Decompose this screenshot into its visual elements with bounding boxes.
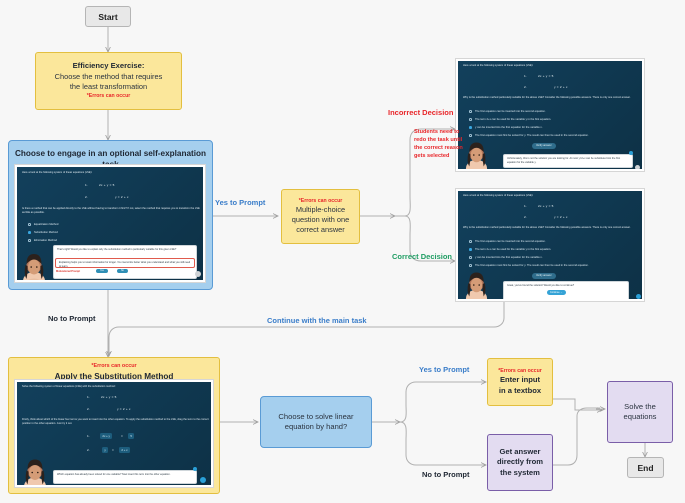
- shot2-radio-1[interactable]: [469, 118, 472, 121]
- shot4-feedback-bubble: Which equation has already been solved f…: [53, 470, 197, 484]
- shot4-drag2-num: 2.: [87, 448, 90, 452]
- shot4-feedback-text: Which equation has already been solved f…: [57, 473, 193, 477]
- help-dot-icon[interactable]: [636, 294, 641, 299]
- shot2-radio-2[interactable]: [469, 126, 472, 129]
- multiple-choice-line1: Multiple-choice: [296, 205, 345, 215]
- shot3-radio-0[interactable]: [469, 240, 472, 243]
- shot1-eq1: 2x + y = 5: [99, 183, 115, 187]
- shot3-prompt: Here a look at the following system of l…: [463, 194, 635, 198]
- screenshot-correct-decision[interactable]: Here a look at the following system of l…: [455, 188, 645, 302]
- close-icon[interactable]: [193, 467, 197, 471]
- help-dot-icon[interactable]: [200, 477, 206, 483]
- efficiency-line1: Efficiency Exercise:: [73, 61, 145, 71]
- shot4-instruction: Firstly, think about which of the linear…: [22, 418, 210, 426]
- shot3-radio-1[interactable]: [469, 248, 472, 251]
- shot1-highlight-box: Explaining helps you to retain informati…: [55, 258, 195, 268]
- shot2-feedback-bubble: Unfortunately, this is not the solution …: [503, 154, 633, 168]
- shot2-radio-3[interactable]: [469, 134, 472, 137]
- edge-label-no-to-prompt-1: No to Prompt: [48, 314, 96, 323]
- shot3-eq2: y = 2 + x: [554, 215, 568, 219]
- shot4-drag1-a[interactable]: 2x + y: [100, 433, 112, 439]
- shot4-drag1-c[interactable]: 5: [128, 433, 134, 439]
- node-enter-input[interactable]: *Errors can occur Enter input in a textb…: [487, 358, 553, 406]
- shot2-eq1: 2x + y = 5: [538, 74, 554, 78]
- shot3-feedback-text: Great, you've found the solution! Would …: [507, 284, 625, 288]
- shot3-eq2-num: 2.: [524, 215, 527, 219]
- shot3-continue-button[interactable]: Continue →: [547, 290, 566, 295]
- shot2-eq1-num: 1.: [524, 74, 527, 78]
- shot4-prompt: Solve the following system of linear equ…: [22, 385, 202, 389]
- app-canvas: Here a look at the following system of l…: [458, 191, 642, 299]
- shot1-yes-button[interactable]: Yes: [96, 269, 108, 273]
- edge-label-no-to-prompt-2: No to Prompt: [422, 470, 470, 479]
- screenshot-substitution[interactable]: Solve the following system of linear equ…: [14, 379, 214, 488]
- edge-note-redo-task: Students need to redo the task until the…: [414, 128, 466, 160]
- shot3-eq1-num: 1.: [524, 204, 527, 208]
- shot4-drag2-c[interactable]: 2 + x: [119, 447, 130, 453]
- get-answer-line2: directly from: [497, 457, 543, 467]
- node-end-label: End: [637, 463, 653, 473]
- node-end[interactable]: End: [627, 457, 664, 478]
- shot4-eq2: y = 2 + x: [117, 407, 131, 411]
- edge-label-continue-main-task: Continue with the main task: [267, 316, 367, 325]
- app-canvas: Here a look at the following system of l…: [17, 167, 203, 280]
- node-efficiency-exercise[interactable]: Efficiency Exercise: Choose the method t…: [35, 52, 182, 110]
- shot1-option-0[interactable]: Equalization Method: [34, 223, 58, 226]
- node-multiple-choice[interactable]: *Errors can occur Multiple-choice questi…: [281, 189, 360, 244]
- shot2-eq2-num: 2.: [524, 85, 527, 89]
- shot3-option-1[interactable]: The term 2+x can be used for the variabl…: [475, 248, 551, 251]
- shot2-option-0[interactable]: The first equation can be inserted into …: [475, 110, 546, 113]
- shot3-radio-3[interactable]: [469, 264, 472, 267]
- shot1-no-button[interactable]: No: [117, 269, 128, 273]
- shot3-question: Why is the substitution method particula…: [463, 226, 641, 230]
- shot3-eq1: 2x + y = 5: [538, 204, 554, 208]
- help-dot-icon[interactable]: [635, 165, 640, 169]
- flowchart-canvas: Start Efficiency Exercise: Choose the me…: [0, 0, 685, 503]
- shot3-verify-button[interactable]: Verify answer: [532, 273, 556, 279]
- screenshot-self-explanation[interactable]: Here a look at the following system of l…: [14, 164, 206, 283]
- shot3-option-0[interactable]: The first equation can be inserted into …: [475, 240, 546, 243]
- app-canvas: Solve the following system of linear equ…: [17, 382, 211, 485]
- avatar-icon: [464, 269, 489, 299]
- multiple-choice-line2: question with one: [292, 215, 350, 225]
- shot1-eq2-num: 2.: [85, 195, 88, 199]
- avatar-icon: [22, 456, 48, 485]
- avatar-icon: [21, 251, 47, 280]
- edge-label-incorrect-decision: Incorrect Decision: [388, 108, 453, 117]
- efficiency-error-note: *Errors can occur: [87, 93, 131, 99]
- app-canvas: Here a look at the following system of l…: [458, 61, 642, 169]
- enter-input-line1: Enter input: [500, 375, 540, 385]
- shot2-question: Why is the substitution method particula…: [463, 96, 641, 100]
- solve-equations-line2: equations: [624, 412, 657, 422]
- shot2-option-3[interactable]: The first equation must first be solved …: [475, 134, 589, 137]
- shot2-feedback-text: Unfortunately, this is not the solution …: [507, 157, 629, 165]
- solve-by-hand-line2: equation by hand?: [285, 422, 348, 432]
- shot1-eq2: y = 2 + x: [115, 195, 129, 199]
- efficiency-line3: the least transformation: [70, 82, 147, 92]
- shot1-motivational-prompt-label: Motivational Prompt: [56, 270, 80, 273]
- shot1-question: Is there a method that can be applied di…: [22, 207, 200, 215]
- shot1-radio-1[interactable]: [28, 231, 31, 234]
- shot1-prompt: Here a look at the following system of l…: [22, 171, 197, 175]
- node-start-label: Start: [98, 12, 117, 22]
- shot2-radio-0[interactable]: [469, 110, 472, 113]
- efficiency-line2: Choose the method that requires: [55, 72, 163, 82]
- shot1-eq1-num: 1.: [85, 183, 88, 187]
- shot1-feedback-text: That's right! Would you like to explain …: [57, 248, 193, 252]
- shot2-option-1[interactable]: The term 2+x can be used for the variabl…: [475, 118, 551, 121]
- node-solve-by-hand[interactable]: Choose to solve linear equation by hand?: [260, 396, 372, 448]
- get-answer-line3: the system: [500, 468, 540, 478]
- shot3-option-2[interactable]: y can be inserted into the first equatio…: [475, 256, 543, 259]
- node-solve-equations[interactable]: Solve the equations: [607, 381, 673, 443]
- substitution-error-note: *Errors can occur: [91, 363, 136, 369]
- shot2-option-2[interactable]: y can be inserted into the first equatio…: [475, 126, 543, 129]
- get-answer-line1: Get answer: [500, 447, 541, 457]
- shot1-highlight-text: Explaining helps you to retain informati…: [59, 261, 191, 269]
- shot1-option-1[interactable]: Substitution Method: [34, 231, 58, 234]
- node-get-answer[interactable]: Get answer directly from the system: [487, 434, 553, 491]
- shot4-drag1-b: =: [121, 434, 123, 438]
- enter-input-error-note: *Errors can occur: [498, 368, 542, 374]
- edge-label-correct-decision: Correct Decision: [392, 252, 452, 261]
- shot2-verify-button[interactable]: Verify answer: [532, 143, 556, 149]
- enter-input-line2: in a textbox: [499, 386, 541, 396]
- shot4-eq1-num: 1.: [87, 395, 90, 399]
- help-dot-icon[interactable]: [195, 271, 201, 277]
- solve-equations-line1: Solve the: [624, 402, 656, 412]
- shot1-radio-2[interactable]: [28, 239, 31, 242]
- shot3-radio-2[interactable]: [469, 256, 472, 259]
- multiple-choice-line3: correct answer: [296, 225, 344, 235]
- screenshot-incorrect-decision[interactable]: Here a look at the following system of l…: [455, 58, 645, 172]
- edge-label-yes-to-prompt-1: Yes to Prompt: [215, 198, 265, 207]
- node-start[interactable]: Start: [85, 6, 131, 27]
- shot1-radio-0[interactable]: [28, 223, 31, 226]
- avatar-icon: [464, 139, 489, 169]
- shot1-option-2[interactable]: Elimination Method: [34, 239, 57, 242]
- shot4-drag2-a[interactable]: y: [102, 447, 108, 453]
- shot4-eq1: 2x + y = 5: [101, 395, 117, 399]
- edge-label-yes-to-prompt-2: Yes to Prompt: [419, 365, 469, 374]
- shot4-drag2-b: =: [112, 448, 114, 452]
- shot3-option-3[interactable]: The first equation must first be solved …: [475, 264, 589, 267]
- shot4-eq2-num: 2.: [87, 407, 90, 411]
- close-icon[interactable]: [629, 151, 633, 155]
- shot3-feedback-bubble: Great, you've found the solution! Would …: [503, 281, 629, 299]
- solve-by-hand-line1: Choose to solve linear: [278, 412, 353, 422]
- shot4-drag1-num: 1.: [87, 434, 90, 438]
- multiple-choice-error-note: *Errors can occur: [299, 198, 343, 204]
- shot2-prompt: Here a look at the following system of l…: [463, 64, 635, 68]
- shot2-eq2: y = 2 + x: [554, 85, 568, 89]
